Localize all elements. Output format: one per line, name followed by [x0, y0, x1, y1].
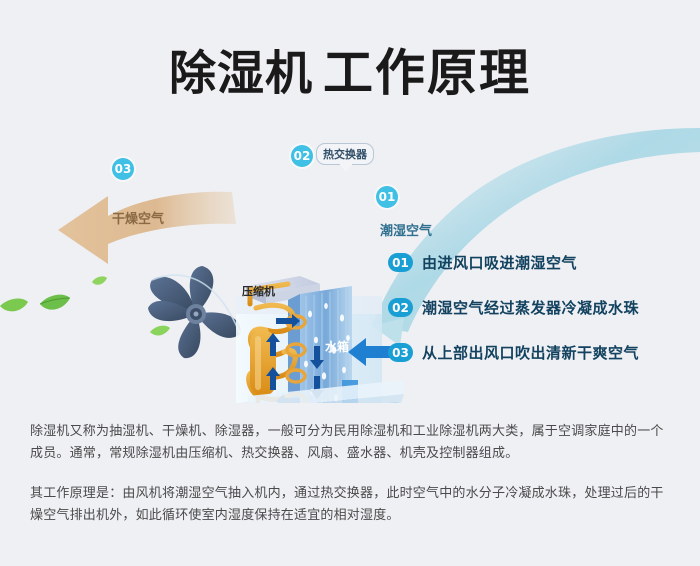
- legend-text-01: 由进风口吸进潮湿空气: [422, 252, 577, 273]
- body-paragraph-1: 除湿机又称为抽湿机、干燥机、除湿器，一般可分为民用除湿机和工业除湿机两大类，属于…: [30, 420, 675, 464]
- page-title-part1: 除湿机: [169, 47, 313, 100]
- legend-item-02: 02 潮湿空气经过蒸发器冷凝成水珠: [388, 297, 688, 318]
- legend-badge-01: 01: [388, 253, 413, 272]
- label-water-tank: 水箱: [325, 338, 349, 355]
- badge-01: 01: [376, 186, 398, 208]
- legend-item-01: 01 由进风口吸进潮湿空气: [388, 252, 688, 273]
- page-root: 除湿机工作原理: [0, 0, 700, 566]
- label-humid-air: 潮湿空气: [380, 220, 432, 239]
- page-title-part2: 工作原理: [323, 45, 531, 101]
- body-copy: 除湿机又称为抽湿机、干燥机、除湿器，一般可分为民用除湿机和工业除湿机两大类，属于…: [30, 420, 675, 526]
- callout-heat-exchanger-text: 热交换器: [323, 149, 367, 161]
- page-title: 除湿机工作原理: [0, 33, 700, 105]
- legend-badge-02: 02: [388, 298, 413, 317]
- fan-icon: [148, 266, 241, 358]
- dry-air-arrow-icon: [58, 192, 236, 264]
- callout-heat-exchanger: 热交换器: [316, 143, 374, 165]
- label-compressor: 压缩机: [242, 283, 275, 299]
- legend-text-02: 潮湿空气经过蒸发器冷凝成水珠: [422, 297, 639, 318]
- legend-list: 01 由进风口吸进潮湿空气 02 潮湿空气经过蒸发器冷凝成水珠 03 从上部出风…: [388, 252, 688, 363]
- legend-badge-03: 03: [388, 343, 413, 362]
- badge-02: 02: [291, 145, 313, 167]
- leaf-icon-group: [0, 276, 173, 335]
- legend-text-03: 从上部出风口吹出清新干爽空气: [422, 342, 639, 363]
- label-dry-air: 干燥空气: [112, 208, 164, 227]
- body-paragraph-2: 其工作原理是：由风机将潮湿空气抽入机内，通过热交换器，此时空气中的水分子冷凝成水…: [30, 482, 675, 526]
- badge-03: 03: [112, 158, 134, 180]
- legend-item-03: 03 从上部出风口吹出清新干爽空气: [388, 342, 688, 363]
